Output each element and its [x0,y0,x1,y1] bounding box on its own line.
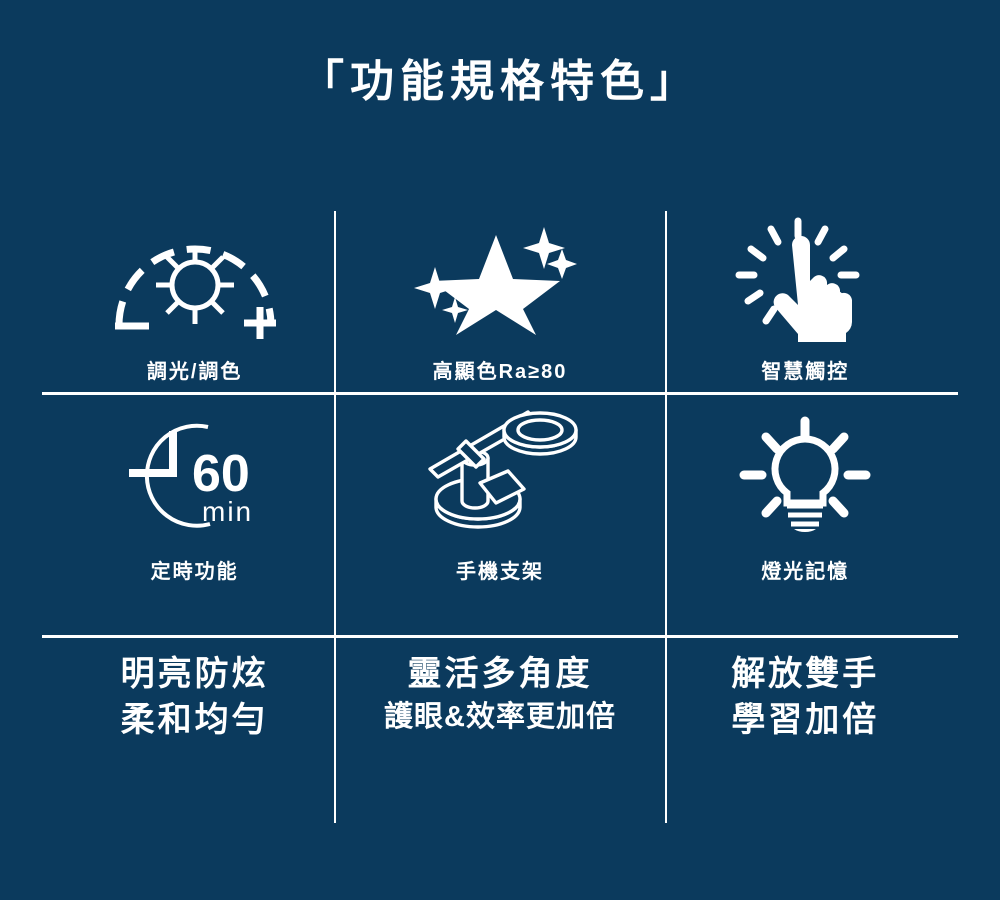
feature-cell-phone-holder: 手機支架 [347,400,652,600]
benefit-line-2: 學習加倍 [731,698,879,744]
page-title: 「功能規格特色」 [0,58,1000,106]
timer-clock-icon: 60 min [110,408,280,543]
feature-row-2: 60 min 定時功能 [42,400,958,600]
feature-label: 手機支架 [456,555,544,584]
sparkle-star-icon [410,208,590,343]
feature-label: 高顯色Ra≥80 [433,355,568,384]
feature-row-1: 調光/調色 [42,200,958,400]
feature-label: 調光/調色 [147,355,243,384]
benefit-line-1: 明亮防炫 [121,652,269,698]
benefit-line-2: 護眼&效率更加倍 [384,698,616,737]
desk-lamp-phone-holder-icon [410,408,590,543]
feature-cell-dimming: 調光/調色 [42,200,347,400]
benefit-cell-2: 靈活多角度 護眼&效率更加倍 [347,600,652,797]
feature-cell-color-rendering: 高顯色Ra≥80 [347,200,652,400]
benefit-cell-3: 解放雙手 學習加倍 [653,600,958,797]
benefit-line-2: 柔和均勻 [121,698,269,744]
benefit-row: 明亮防炫 柔和均勻 靈活多角度 護眼&效率更加倍 解放雙手 學習加倍 [42,600,958,797]
feature-spec-panel: 「功能規格特色」 [0,0,1000,900]
touch-hand-icon [730,208,880,343]
dimming-sun-icon [105,208,285,343]
benefit-cell-1: 明亮防炫 柔和均勻 [42,600,347,797]
feature-label: 定時功能 [151,555,239,584]
timer-value-text: 60 [192,445,250,503]
feature-label: 燈光記憶 [761,555,849,584]
feature-grid: 調光/調色 [42,200,958,832]
feature-label: 智慧觸控 [761,355,849,384]
benefit-line-1: 解放雙手 [731,652,879,698]
feature-cell-timer: 60 min 定時功能 [42,400,347,600]
timer-unit-text: min [202,496,253,527]
light-bulb-icon [730,408,880,543]
page-title-text: 「功能規格特色」 [300,58,700,106]
benefit-line-1: 靈活多角度 [407,652,592,698]
feature-cell-light-memory: 燈光記憶 [653,400,958,600]
feature-cell-touch-control: 智慧觸控 [653,200,958,400]
